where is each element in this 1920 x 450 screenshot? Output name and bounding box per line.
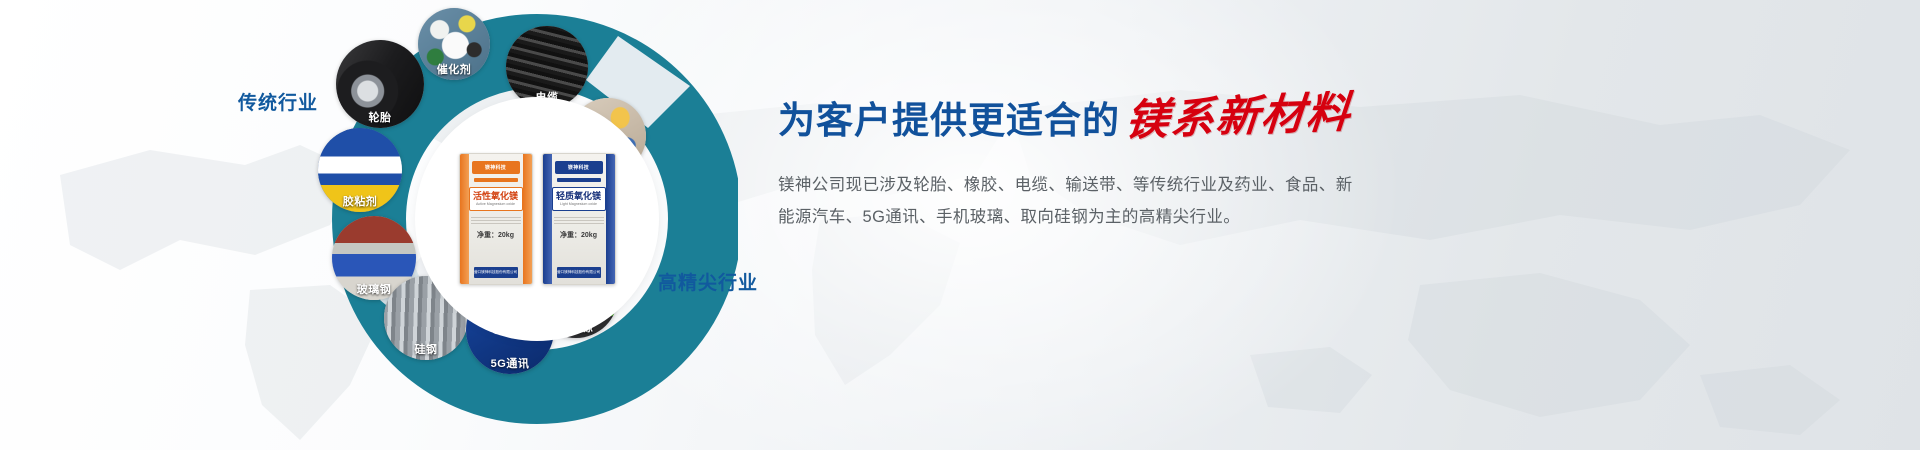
bag-spec-lines bbox=[554, 215, 604, 226]
headline-accent-text: 镁系新材料 bbox=[1124, 92, 1354, 144]
bag-company: 营口镁神科技股份有限公司 bbox=[474, 267, 518, 278]
label-traditional-industries: 传统行业 bbox=[238, 88, 318, 115]
fiveg-label: 5G通讯 bbox=[466, 358, 554, 374]
bag-name-box: 轻质氧化镁 Light Magnesium oxide bbox=[552, 187, 606, 211]
center-product-disc: 镁神科技 活性氧化镁 Active Magnesium oxide 净重：20k… bbox=[418, 100, 656, 338]
bag-accent-strip bbox=[557, 178, 601, 182]
bag-name-cn: 轻质氧化镁 bbox=[553, 192, 605, 201]
bag-name-box: 活性氧化镁 Active Magnesium oxide bbox=[469, 187, 523, 211]
bag-side-stripe-right bbox=[523, 154, 532, 284]
bag-accent-strip bbox=[474, 178, 518, 182]
node-adhesive[interactable]: 胶粘剂 bbox=[318, 128, 402, 212]
bag-name-cn: 活性氧化镁 bbox=[470, 192, 522, 201]
brand-logo: 镁神科技 bbox=[472, 161, 520, 174]
bag-name-en: Active Magnesium oxide bbox=[470, 202, 522, 206]
bag-side-stripe-left bbox=[543, 154, 552, 284]
node-cable[interactable]: 电缆 bbox=[506, 26, 588, 108]
bag-weight: 净重：20kg bbox=[560, 230, 597, 240]
node-catalyst[interactable]: 催化剂 bbox=[418, 8, 490, 80]
tire-label: 轮胎 bbox=[336, 112, 424, 128]
label-hightech-industries: 高精尖行业 bbox=[658, 268, 758, 295]
industry-circle-diagram: 催化剂 轮胎 电缆 医药 胶粘剂 食品 玻璃钢 bbox=[318, 8, 738, 428]
hero-banner: 催化剂 轮胎 电缆 医药 胶粘剂 食品 玻璃钢 bbox=[0, 0, 1920, 450]
brand-logo: 镁神科技 bbox=[555, 161, 603, 174]
paragraph-line-2: 能源汽车、5G通讯、手机玻璃、取向硅钢为主的高精尖行业。 bbox=[778, 201, 1378, 233]
paragraph-line-1: 镁神公司现已涉及轮胎、橡胶、电缆、输送带、等传统行业及药业、食品、新 bbox=[778, 169, 1378, 201]
node-tire[interactable]: 轮胎 bbox=[336, 40, 424, 128]
product-bag-active-mgo[interactable]: 镁神科技 活性氧化镁 Active Magnesium oxide 净重：20k… bbox=[459, 153, 533, 285]
catalyst-label: 催化剂 bbox=[418, 64, 490, 80]
silicon-label: 硅钢 bbox=[384, 344, 468, 360]
bag-spec-lines bbox=[471, 215, 521, 226]
bag-name-en: Light Magnesium oxide bbox=[553, 202, 605, 206]
headline: 为客户提供更适合的 镁系新材料 bbox=[778, 96, 1498, 139]
bag-side-stripe-left bbox=[460, 154, 469, 284]
bag-weight: 净重：20kg bbox=[477, 230, 514, 240]
adhesive-label: 胶粘剂 bbox=[318, 196, 402, 212]
bag-company: 营口镁神科技股份有限公司 bbox=[557, 267, 601, 278]
hero-copy: 为客户提供更适合的 镁系新材料 镁神公司现已涉及轮胎、橡胶、电缆、输送带、等传统… bbox=[778, 96, 1498, 233]
product-bag-light-mgo[interactable]: 镁神科技 轻质氧化镁 Light Magnesium oxide 净重：20kg… bbox=[542, 153, 616, 285]
bag-side-stripe-right bbox=[606, 154, 615, 284]
hero-paragraph: 镁神公司现已涉及轮胎、橡胶、电缆、输送带、等传统行业及药业、食品、新 能源汽车、… bbox=[778, 169, 1378, 233]
headline-main-text: 为客户提供更适合的 bbox=[778, 102, 1120, 139]
